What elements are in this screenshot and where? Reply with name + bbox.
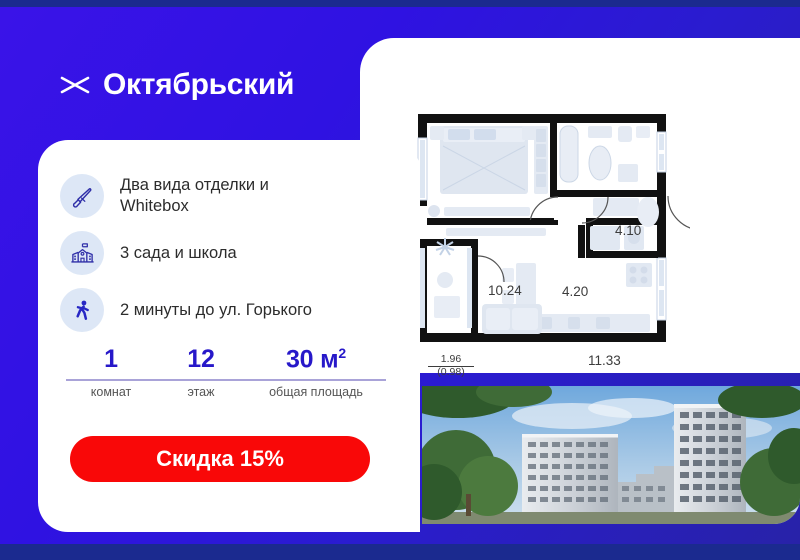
complex-photo[interactable] xyxy=(422,386,800,524)
stat-floor: 12 этаж xyxy=(156,345,246,400)
balcony-area: 1.96 (0.98) xyxy=(428,354,474,378)
pedestrian-icon xyxy=(60,288,104,332)
brand-logo[interactable]: Октябрьский xyxy=(60,68,294,102)
room-area-kitchen-living: 11.33 xyxy=(588,353,621,368)
feature-item-finishing[interactable]: Два вида отделки и Whitebox xyxy=(60,174,400,218)
stat-area-superscript: 2 xyxy=(338,345,346,361)
info-card: Два вида отделки и Whitebox xyxy=(38,140,420,532)
floorplan-drawing[interactable]: 10.24 4.10 4.20 11.33 1.96 (0.98) xyxy=(410,108,690,353)
discount-button[interactable]: Скидка 15% xyxy=(70,436,370,482)
stats-divider xyxy=(66,379,386,381)
stat-area-label: общая площадь xyxy=(246,385,386,400)
stat-area: 30 м2 общая площадь xyxy=(246,345,386,400)
feature-item-walkability[interactable]: 2 минуты до ул. Горького xyxy=(60,288,400,332)
feature-label-finishing: Два вида отделки и Whitebox xyxy=(120,175,340,217)
stat-rooms: 1 комнат xyxy=(66,345,156,400)
room-area-bedroom: 10.24 xyxy=(488,283,522,298)
stat-area-value: 30 м2 xyxy=(246,345,386,374)
room-area-bathroom: 4.10 xyxy=(615,223,641,238)
stat-rooms-value: 1 xyxy=(66,345,156,374)
stats-row: 1 комнат 12 этаж 30 м2 общая площадь xyxy=(66,345,386,400)
room-area-hallway: 4.20 xyxy=(562,284,588,299)
stat-area-number: 30 м xyxy=(286,345,338,373)
floorplan-panel: 10.24 4.10 4.20 11.33 1.96 (0.98) xyxy=(360,38,800,373)
stat-floor-value: 12 xyxy=(156,345,246,374)
brand-name: Октябрьский xyxy=(103,68,294,102)
feature-label-walkability: 2 минуты до ул. Горького xyxy=(120,300,312,321)
promo-card: Октябрьский xyxy=(0,0,800,560)
school-icon xyxy=(60,231,104,275)
feature-item-schools[interactable]: 3 сада и школа xyxy=(60,231,400,275)
stat-rooms-label: комнат xyxy=(66,385,156,400)
x-mark-icon xyxy=(60,70,90,100)
trowel-icon xyxy=(60,174,104,218)
balcony-area-reduced: (0.98) xyxy=(437,366,464,378)
stat-floor-label: этаж xyxy=(156,385,246,400)
feature-label-schools: 3 сада и школа xyxy=(120,243,237,264)
feature-list: Два вида отделки и Whitebox xyxy=(60,174,400,345)
frame-bottom xyxy=(0,544,800,560)
